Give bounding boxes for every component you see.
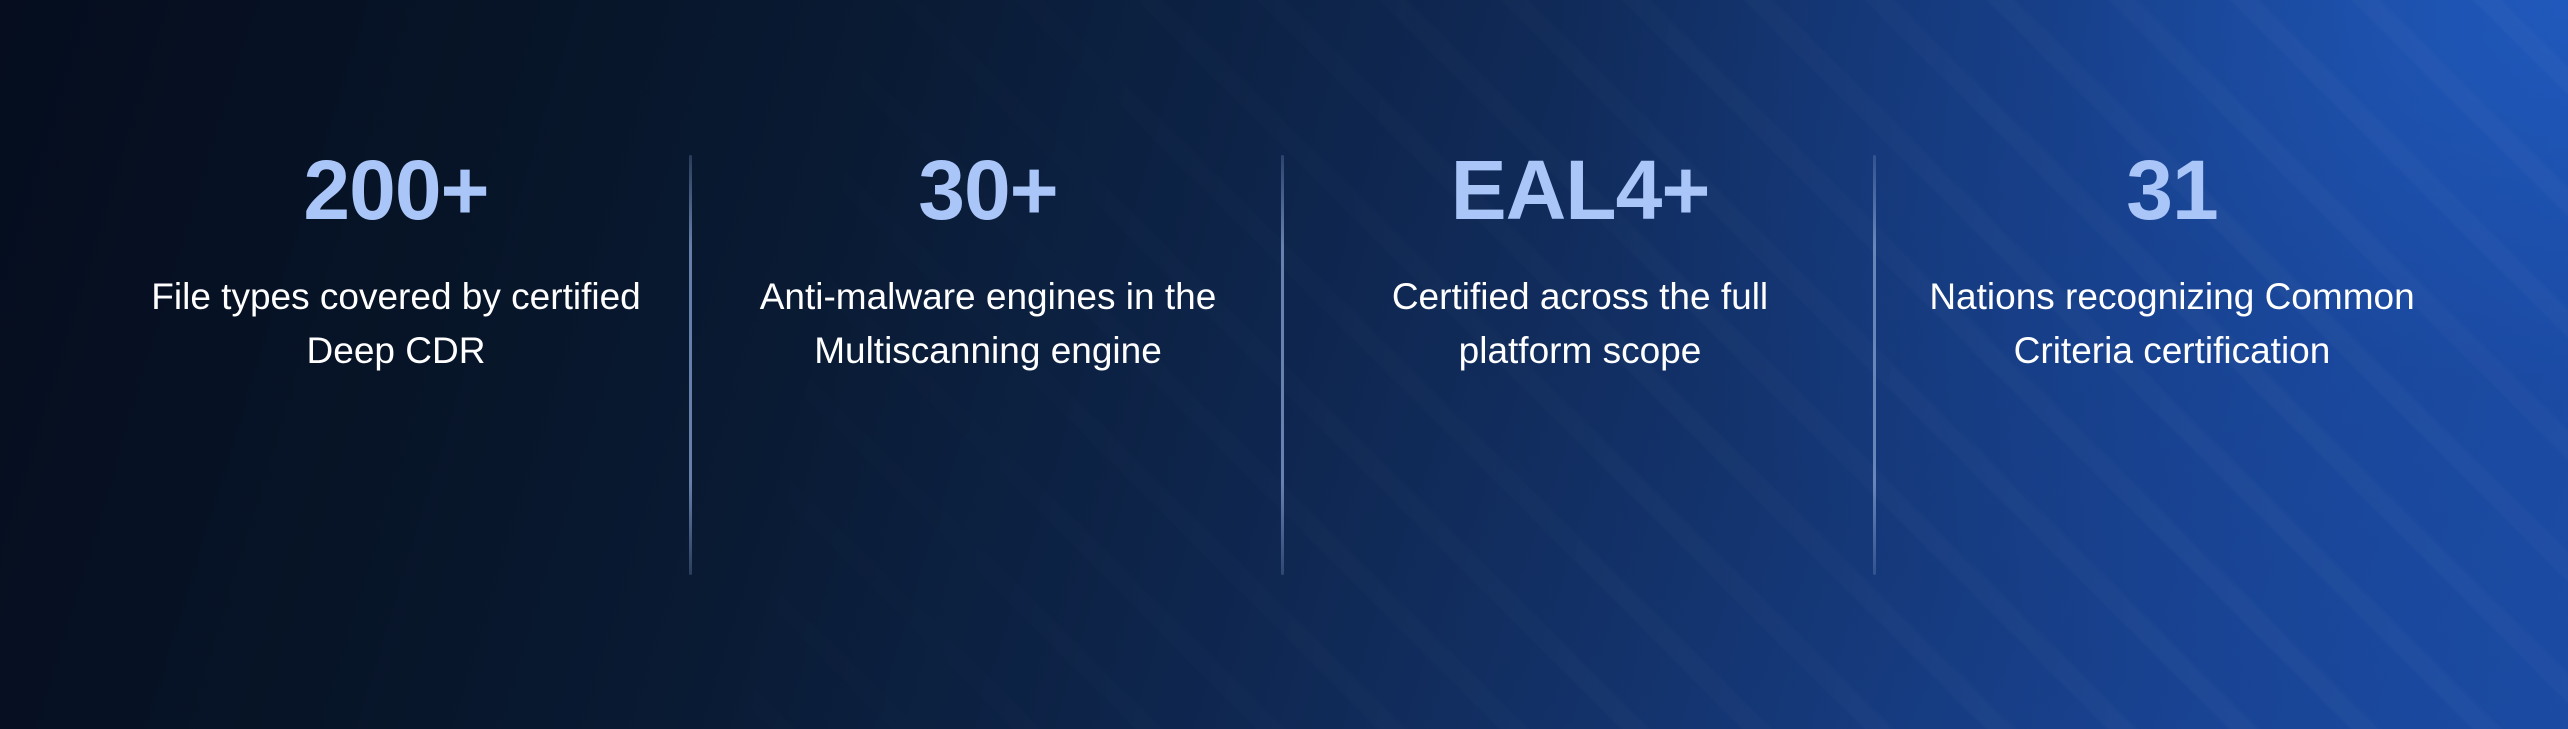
stat-label: Anti-malware engines in the Multiscannin…	[738, 270, 1238, 377]
stats-row: 200+ File types covered by certified Dee…	[0, 0, 2568, 729]
stat-value: 31	[1922, 148, 2422, 232]
stat-label: Certified across the full platform scope	[1330, 270, 1830, 377]
stat-item-eal4-certification: EAL4+ Certified across the full platform…	[1284, 148, 1876, 377]
stat-label: Nations recognizing Common Criteria cert…	[1922, 270, 2422, 377]
stat-item-file-types: 200+ File types covered by certified Dee…	[100, 148, 692, 377]
stat-value: 200+	[146, 148, 646, 232]
stat-value: 30+	[738, 148, 1238, 232]
stat-label: File types covered by certified Deep CDR	[146, 270, 646, 377]
stat-item-nations-recognizing: 31 Nations recognizing Common Criteria c…	[1876, 148, 2468, 377]
stat-item-anti-malware-engines: 30+ Anti-malware engines in the Multisca…	[692, 148, 1284, 377]
stats-banner: 200+ File types covered by certified Dee…	[0, 0, 2568, 729]
stat-value: EAL4+	[1330, 148, 1830, 232]
